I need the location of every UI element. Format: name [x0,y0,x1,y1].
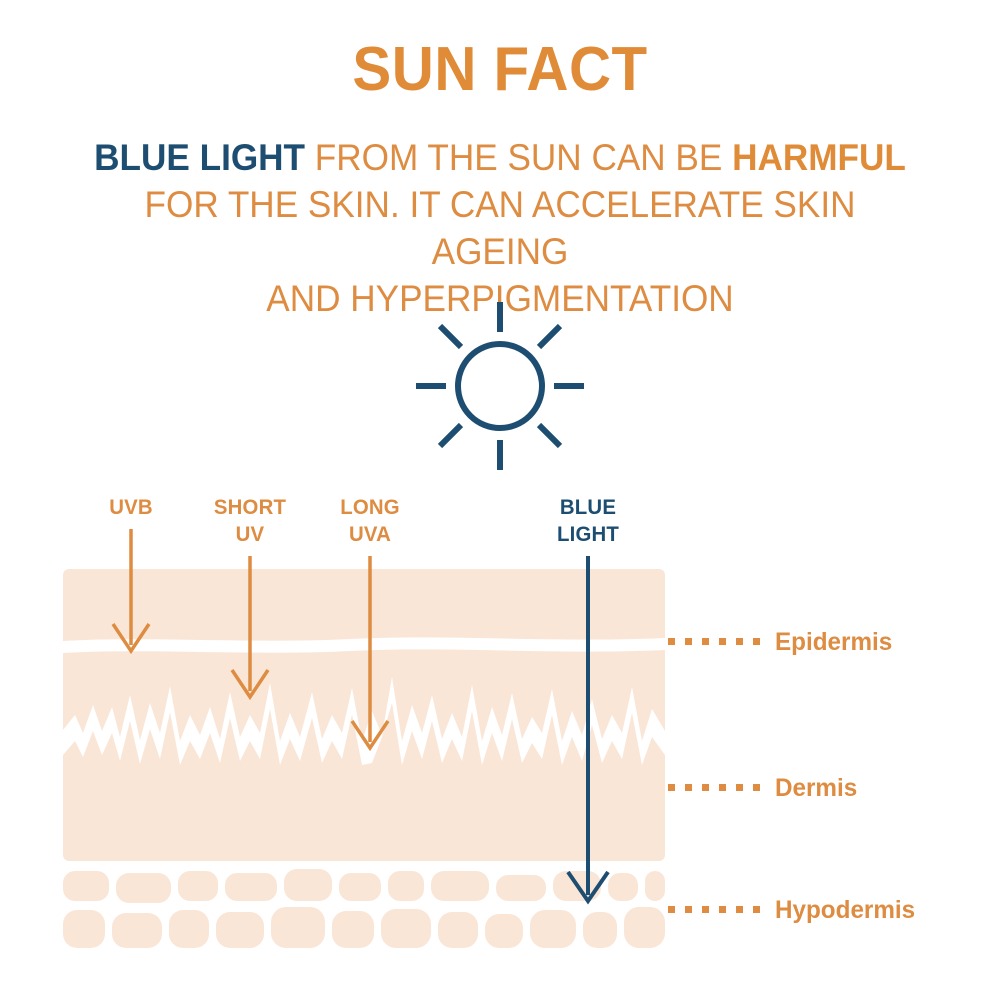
ray-label-short-uv: SHORT UV [192,494,308,548]
leader-line-dermis [668,784,766,791]
page-title: SUN FACT [30,34,970,105]
layer-label-epidermis: Epidermis [775,628,892,657]
subtitle-line-2: FOR THE SKIN. IT CAN ACCELERATE SKIN AGE… [145,184,856,272]
subtitle: BLUE LIGHT FROM THE SUN CAN BE HARMFUL F… [73,134,928,322]
leader-line-epidermis [668,638,766,645]
layer-label-hypodermis: Hypodermis [775,896,915,925]
infographic-canvas: SUN FACT BLUE LIGHT FROM THE SUN CAN BE … [0,0,1000,1000]
skin-cross-section [50,555,670,955]
subtitle-mid-text: FROM THE SUN CAN BE [305,137,732,178]
subtitle-line-1: BLUE LIGHT FROM THE SUN CAN BE HARMFUL [94,137,906,178]
subtitle-blue-light: BLUE LIGHT [94,137,305,178]
sun-icon [408,298,592,474]
leader-line-hypodermis [668,906,766,913]
layer-label-dermis: Dermis [775,774,857,803]
subtitle-harmful: HARMFUL [732,137,906,178]
ray-label-long-uva: LONG UVA [312,494,428,548]
skin-block [63,569,665,861]
ray-label-uvb: UVB [73,494,189,521]
ray-label-blue-light: BLUE LIGHT [530,494,646,548]
hypodermis-cells [63,869,665,955]
